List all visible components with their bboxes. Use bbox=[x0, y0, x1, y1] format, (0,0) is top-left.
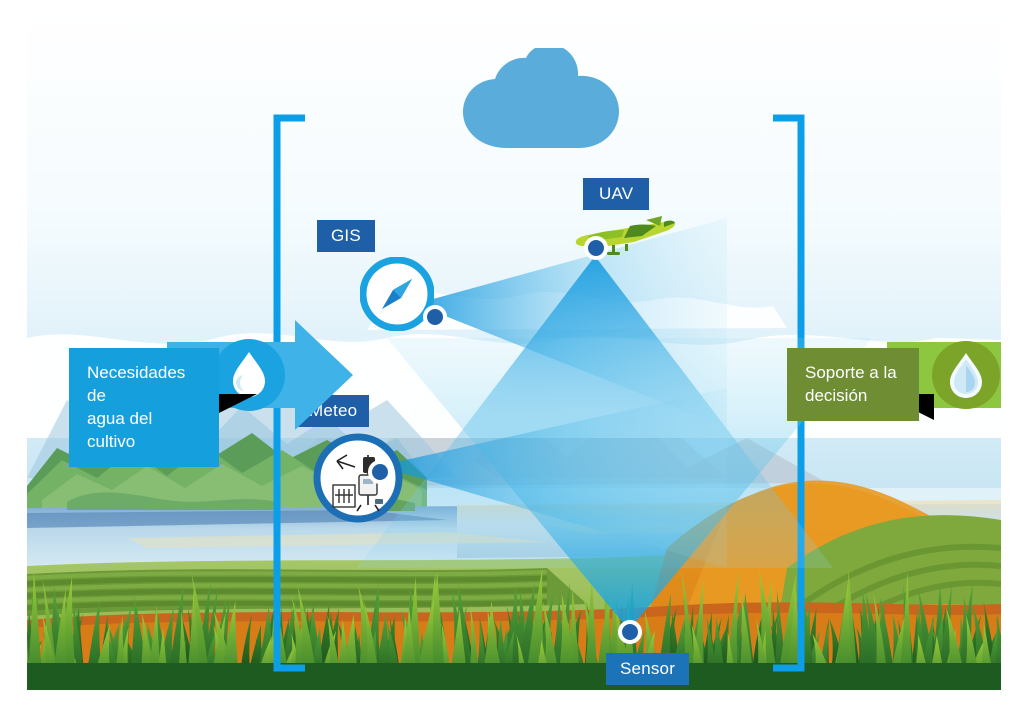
cloud-icon bbox=[455, 48, 645, 153]
airplane-icon bbox=[568, 214, 678, 264]
node-dot-uav[interactable] bbox=[584, 236, 608, 260]
node-dot-sensor[interactable] bbox=[618, 620, 642, 644]
tag-sensor[interactable]: Sensor bbox=[606, 653, 689, 685]
banner-left[interactable]: Necesidades de agua del cultivo bbox=[69, 348, 219, 467]
scene: GIS UAV Meteo Sensor Necesidades de agua… bbox=[27, 8, 1001, 690]
tag-uav[interactable]: UAV bbox=[583, 178, 649, 210]
node-dot-gis[interactable] bbox=[423, 305, 447, 329]
banner-left-line1: Necesidades de bbox=[87, 361, 203, 407]
diagram-canvas: GIS UAV Meteo Sensor Necesidades de agua… bbox=[0, 0, 1024, 723]
banner-right-line2: decisión bbox=[805, 384, 903, 407]
node-dot-meteo[interactable] bbox=[368, 460, 392, 484]
tag-gis[interactable]: GIS bbox=[317, 220, 375, 252]
water-drop-icon-right bbox=[932, 341, 1000, 409]
banner-right[interactable]: Soporte a la decisión bbox=[787, 348, 919, 421]
banner-left-line2: agua del cultivo bbox=[87, 407, 203, 453]
banner-right-line1: Soporte a la bbox=[805, 361, 903, 384]
